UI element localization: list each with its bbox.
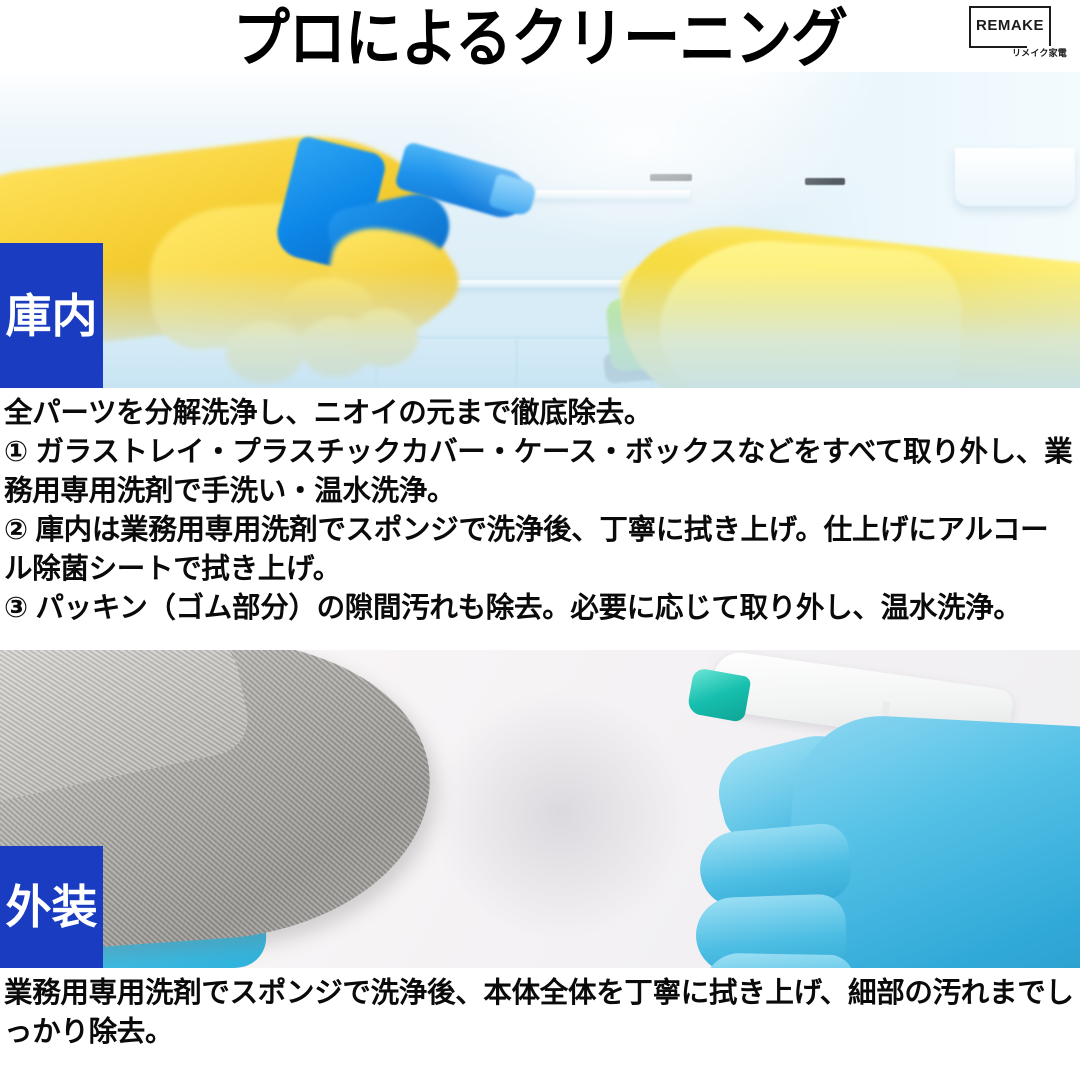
infographic-page: プロによるクリーニング REMAKE リメイク家電 [0,0,1080,1080]
page-header: プロによるクリーニング REMAKE リメイク家電 [0,0,1080,72]
photo-fridge-interior: 庫内 [0,72,1080,388]
section-badge-exterior: 外装 [0,846,103,968]
section-text-exterior: 業務用専用洗剤でスポンジで洗浄後、本体全体を丁寧に拭き上げ、細部の汚れまでしっか… [0,968,1080,1080]
section-text-interior: 全パーツを分解洗浄し、ニオイの元まで徹底除去。 ① ガラストレイ・プラスチックカ… [0,388,1080,650]
photo-exterior-wipe: 外装 [0,650,1080,968]
page-title: プロによるクリーニング [0,0,1080,80]
section-badge-interior: 庫内 [0,243,103,388]
blue-glove-finger [703,953,854,968]
fridge-door-pocket [955,148,1075,206]
logo-subtitle: リメイク家電 [1012,46,1067,59]
exterior-shadow [430,690,690,940]
brand-logo: REMAKE リメイク家電 [969,6,1067,62]
fridge-floor-reflection [0,268,1080,388]
logo-wordmark: REMAKE [969,6,1051,44]
section-body-interior: 全パーツを分解洗浄し、ニオイの元まで徹底除去。 ① ガラストレイ・プラスチックカ… [4,394,1076,628]
shelf-clip [805,178,845,185]
section-body-exterior: 業務用専用洗剤でスポンジで洗浄後、本体全体を丁寧に拭き上げ、細部の汚れまでしっか… [4,974,1076,1052]
shelf-clip [650,174,692,181]
